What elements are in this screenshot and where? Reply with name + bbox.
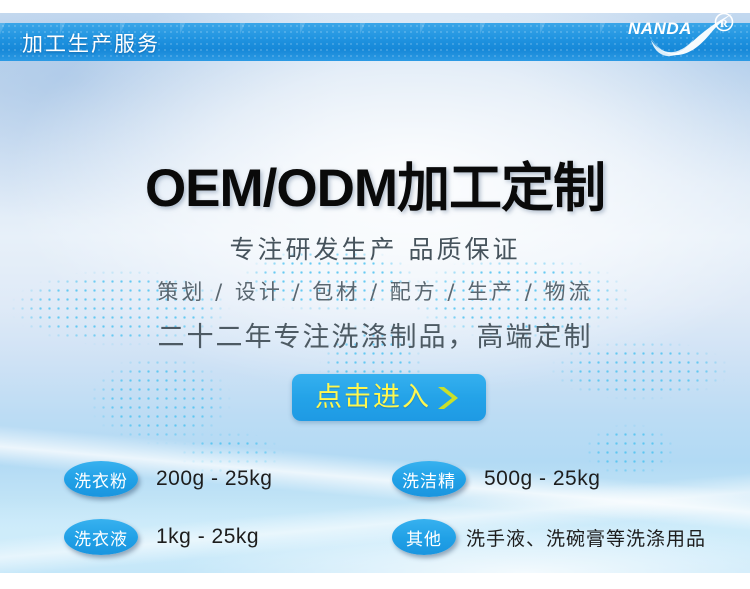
product-row: 洗衣液 1kg - 25kg	[64, 519, 259, 555]
promo-banner: 加工生产服务 NANDA R OEM/ODM加工定制 专注研发生产 品质保证 策…	[0, 0, 750, 589]
product-spec: 500g - 25kg	[484, 467, 600, 491]
product-row: 其他 洗手液、洗碗膏等洗涤用品	[392, 519, 706, 555]
header-strip-title: 加工生产服务	[22, 28, 160, 58]
product-badge: 洗衣液	[64, 519, 138, 555]
hero-subtitle-primary: 专注研发生产 品质保证	[0, 230, 750, 266]
nanda-logo[interactable]: NANDA R	[618, 8, 738, 60]
product-badge: 其他	[392, 519, 456, 555]
enter-button-label: 点击进入	[315, 384, 431, 411]
logo-wordmark: NANDA	[628, 19, 692, 38]
bottom-margin	[0, 573, 750, 589]
page-title: OEM/ODM加工定制	[0, 146, 750, 222]
hero-service-list: 策划 / 设计 / 包材 / 配方 / 生产 / 物流	[0, 276, 750, 306]
product-spec: 1kg - 25kg	[156, 525, 259, 549]
hero-tagline: 二十二年专注洗涤制品，高端定制	[0, 315, 750, 354]
chevron-right-icon	[433, 383, 463, 413]
svg-text:R: R	[720, 18, 729, 30]
product-badge: 洗洁精	[392, 461, 466, 497]
product-badge: 洗衣粉	[64, 461, 138, 497]
product-row: 洗衣粉 200g - 25kg	[64, 461, 272, 497]
enter-button[interactable]: 点击进入	[292, 374, 486, 421]
product-spec: 洗手液、洗碗膏等洗涤用品	[466, 524, 706, 551]
product-row: 洗洁精 500g - 25kg	[392, 461, 600, 497]
product-spec: 200g - 25kg	[156, 467, 272, 491]
